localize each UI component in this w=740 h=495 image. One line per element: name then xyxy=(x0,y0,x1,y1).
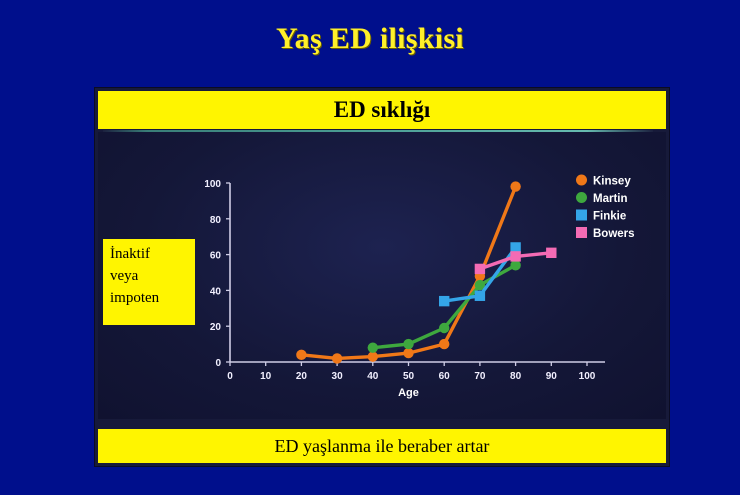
legend-swatch xyxy=(576,210,587,221)
legend-label: Bowers xyxy=(593,228,635,240)
x-tick-label: 50 xyxy=(403,371,415,382)
callout-line-1: İnaktif xyxy=(110,244,195,266)
y-tick-label: 0 xyxy=(215,358,221,369)
y-tick-label: 40 xyxy=(210,286,222,297)
x-tick-label: 0 xyxy=(227,371,233,382)
slide-root: Yaş ED ilişkisi ED sıklığı 0102030405060… xyxy=(0,0,740,495)
data-point xyxy=(475,264,485,274)
data-point xyxy=(475,291,485,301)
figure-footer-banner: ED yaşlanma ile beraber artar xyxy=(98,429,666,463)
y-tick-label: 100 xyxy=(204,179,221,190)
data-point xyxy=(368,342,378,352)
figure-header-banner: ED sıklığı xyxy=(98,91,666,129)
data-point xyxy=(403,339,413,349)
x-tick-label: 90 xyxy=(546,371,558,382)
x-tick-label: 30 xyxy=(332,371,344,382)
data-point xyxy=(439,296,449,306)
data-point xyxy=(332,353,342,363)
x-tick-label: 70 xyxy=(474,371,486,382)
legend-label: Finkie xyxy=(593,211,626,223)
page-title: Yaş ED ilişkisi xyxy=(0,22,740,56)
x-tick-label: 80 xyxy=(510,371,522,382)
data-point xyxy=(510,251,520,261)
callout-box: İnaktif veya impoten xyxy=(103,239,195,325)
legend-swatch xyxy=(576,175,587,186)
legend-swatch xyxy=(576,192,587,203)
y-tick-label: 20 xyxy=(210,322,222,333)
legend-item-martin[interactable]: Martin xyxy=(576,192,628,205)
series-kinsey xyxy=(296,181,521,363)
callout-line-2: veya xyxy=(110,266,195,288)
data-point xyxy=(368,351,378,361)
legend-label: Kinsey xyxy=(593,176,631,188)
x-tick-label: 20 xyxy=(296,371,308,382)
legend-swatch xyxy=(576,227,587,238)
x-tick-label: 60 xyxy=(439,371,451,382)
data-point xyxy=(510,181,520,191)
x-tick-label: 100 xyxy=(579,371,596,382)
data-point xyxy=(296,350,306,360)
y-tick-label: 60 xyxy=(210,251,222,262)
callout-line-3: impoten xyxy=(110,288,195,310)
x-tick-label: 40 xyxy=(367,371,379,382)
legend-item-finkie[interactable]: Finkie xyxy=(576,210,626,223)
legend-item-kinsey[interactable]: Kinsey xyxy=(576,175,631,188)
legend-item-bowers[interactable]: Bowers xyxy=(576,227,635,240)
data-point xyxy=(439,339,449,349)
x-tick-label: 10 xyxy=(260,371,272,382)
y-tick-label: 80 xyxy=(210,215,222,226)
data-point xyxy=(403,348,413,358)
data-point xyxy=(510,260,520,270)
data-point xyxy=(546,248,556,258)
data-point xyxy=(510,242,520,252)
data-point xyxy=(439,323,449,333)
legend-label: Martin xyxy=(593,193,628,205)
x-axis-title: Age xyxy=(398,387,419,399)
